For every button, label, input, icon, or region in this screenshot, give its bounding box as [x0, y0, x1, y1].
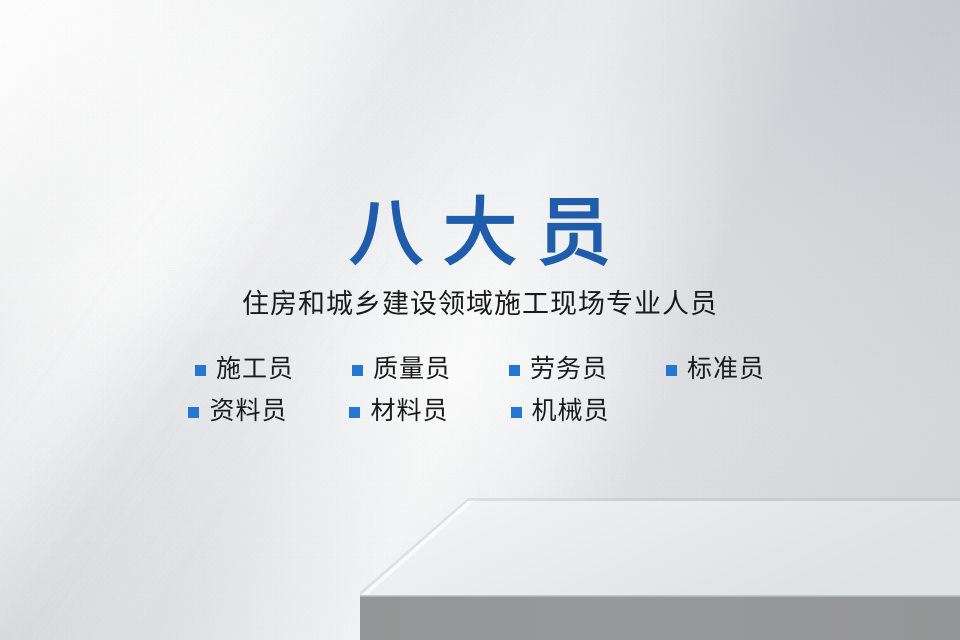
- role-item-jixieyuan[interactable]: 机械员: [511, 396, 610, 426]
- role-list: 施工员 质量员 劳务员 标准员 资料员: [0, 348, 960, 432]
- role-label: 资料员: [209, 396, 287, 426]
- role-row-2: 资料员 材料员 机械员: [0, 390, 960, 432]
- square-bullet-icon: [349, 407, 360, 418]
- role-label: 劳务员: [530, 354, 608, 384]
- role-row-1: 施工员 质量员 劳务员 标准员: [0, 348, 960, 390]
- square-bullet-icon: [352, 365, 363, 376]
- podium-top-front-seam: [360, 595, 960, 597]
- page-title: 八大员: [0, 192, 960, 274]
- square-bullet-icon: [509, 365, 520, 376]
- square-bullet-icon: [195, 365, 206, 376]
- role-label: 机械员: [532, 396, 610, 426]
- square-bullet-icon: [511, 407, 522, 418]
- role-item-cailiaoyuan[interactable]: 材料员: [349, 396, 448, 426]
- poster-canvas: 八大员 住房和城乡建设领域施工现场专业人员 施工员 质量员 劳务员: [0, 0, 960, 640]
- role-item-biaozhunyuan[interactable]: 标准员: [666, 354, 765, 384]
- role-item-ziliaoyuan[interactable]: 资料员: [188, 396, 287, 426]
- role-label: 质量员: [373, 354, 451, 384]
- role-label: 材料员: [370, 396, 448, 426]
- podium-front-face: [360, 596, 960, 640]
- role-item-zhiliangyuan[interactable]: 质量员: [352, 354, 451, 384]
- role-item-shigongyuan[interactable]: 施工员: [195, 354, 294, 384]
- page-subtitle: 住房和城乡建设领域施工现场专业人员: [0, 287, 960, 321]
- square-bullet-icon: [666, 365, 677, 376]
- role-label: 施工员: [216, 354, 294, 384]
- square-bullet-icon: [188, 407, 199, 418]
- role-label: 标准员: [687, 354, 765, 384]
- role-item-laowuyuan[interactable]: 劳务员: [509, 354, 608, 384]
